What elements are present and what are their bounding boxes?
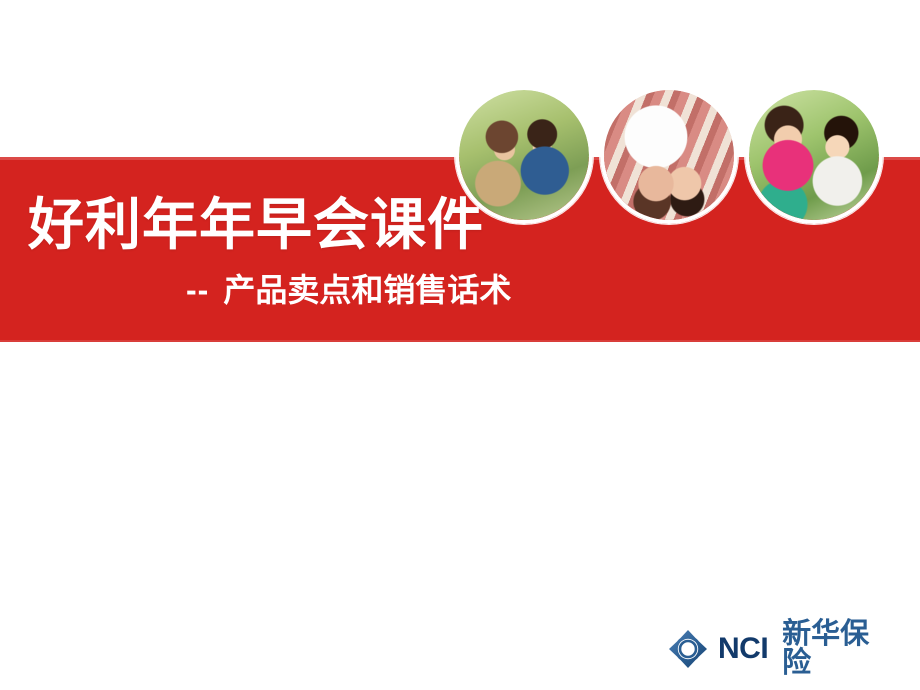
photo-image-2 [604, 90, 734, 220]
logo-abbreviation: NCI [718, 634, 768, 664]
nci-logo: NCI 新华保险 [668, 626, 884, 672]
father-and-child-photo [455, 86, 593, 224]
presentation-slide: 好利年年早会课件 --产品卖点和销售话术 [0, 0, 920, 690]
photo-artwork-3 [749, 90, 879, 220]
photo-strip [0, 0, 920, 360]
nci-diamond-circle-icon [668, 629, 708, 669]
photo-image-1 [459, 90, 589, 220]
photo-image-3 [749, 90, 879, 220]
mother-and-child-garden-photo [745, 86, 883, 224]
photo-artwork-1 [459, 90, 589, 220]
photo-artwork-2 [604, 90, 734, 220]
mother-and-daughter-lying-photo [600, 86, 738, 224]
logo-company-name: 新华保险 [782, 620, 884, 678]
